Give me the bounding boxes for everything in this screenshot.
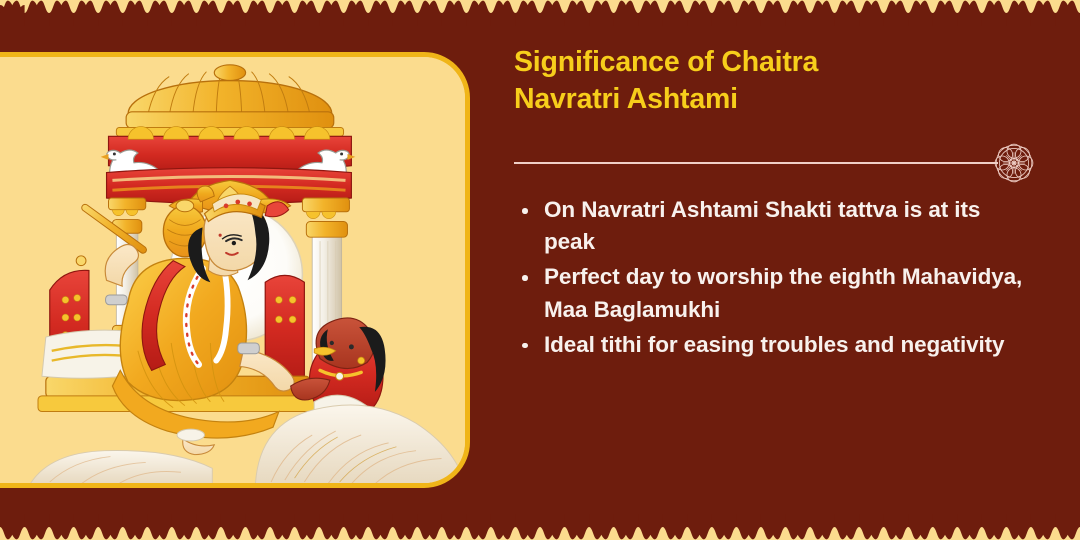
list-item: Perfect day to worship the eighth Mahavi… xyxy=(514,261,1034,325)
bottom-border-pattern-icon xyxy=(0,514,1080,540)
content-column: Significance of Chaitra Navratri Ashtami xyxy=(514,44,1034,364)
list-item-text: On Navratri Ashtami Shakti tattva is at … xyxy=(544,197,980,254)
divider xyxy=(514,162,998,164)
throne-cloth xyxy=(42,330,130,378)
maa-baglamukhi-illustration xyxy=(0,57,465,484)
list-item: Ideal tithi for easing troubles and nega… xyxy=(514,329,1034,361)
illustration-panel xyxy=(0,52,470,488)
bullet-list: On Navratri Ashtami Shakti tattva is at … xyxy=(514,194,1034,361)
divider-row xyxy=(514,138,1034,188)
list-item: On Navratri Ashtami Shakti tattva is at … xyxy=(514,194,1034,258)
top-decorative-border xyxy=(0,0,1080,26)
slide-canvas: Significance of Chaitra Navratri Ashtami xyxy=(0,0,1080,540)
page-title: Significance of Chaitra Navratri Ashtami xyxy=(514,44,1034,118)
bullet-dot-icon xyxy=(522,343,528,349)
bottom-decorative-border xyxy=(0,514,1080,540)
mandala-rosette-icon xyxy=(987,136,1041,190)
top-border-pattern-icon xyxy=(0,0,1080,26)
list-item-text: Perfect day to worship the eighth Mahavi… xyxy=(544,264,1022,321)
bullet-dot-icon xyxy=(522,275,528,281)
bullet-dot-icon xyxy=(522,208,528,214)
list-item-text: Ideal tithi for easing troubles and nega… xyxy=(544,332,1004,357)
